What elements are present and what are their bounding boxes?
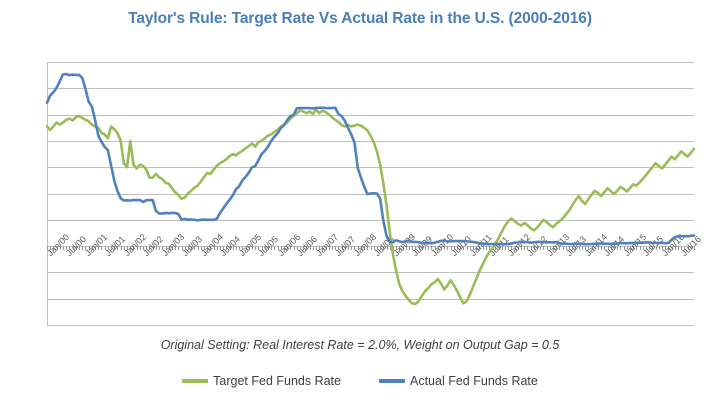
series-line-actual-fed-funds-rate [47, 74, 694, 244]
plot-area: 76543210-1-2-3Jan/00Jul/00Jan/01Jul/01Ja… [47, 62, 694, 325]
legend-item-target[interactable]: Target Fed Funds Rate [182, 374, 341, 388]
series-layer [47, 62, 694, 325]
chart-footnote: Original Setting: Real Interest Rate = 2… [0, 338, 720, 352]
chart-title: Taylor's Rule: Target Rate Vs Actual Rat… [60, 8, 660, 29]
legend-label-actual: Actual Fed Funds Rate [410, 374, 538, 388]
legend-swatch-actual [379, 379, 405, 383]
legend-swatch-target [182, 379, 208, 383]
legend-label-target: Target Fed Funds Rate [213, 374, 341, 388]
chart-legend: Target Fed Funds Rate Actual Fed Funds R… [0, 374, 720, 388]
chart-root: Taylor's Rule: Target Rate Vs Actual Rat… [0, 0, 720, 401]
gridline [47, 325, 694, 326]
legend-item-actual[interactable]: Actual Fed Funds Rate [379, 374, 538, 388]
series-line-target-fed-funds-rate [47, 109, 694, 304]
